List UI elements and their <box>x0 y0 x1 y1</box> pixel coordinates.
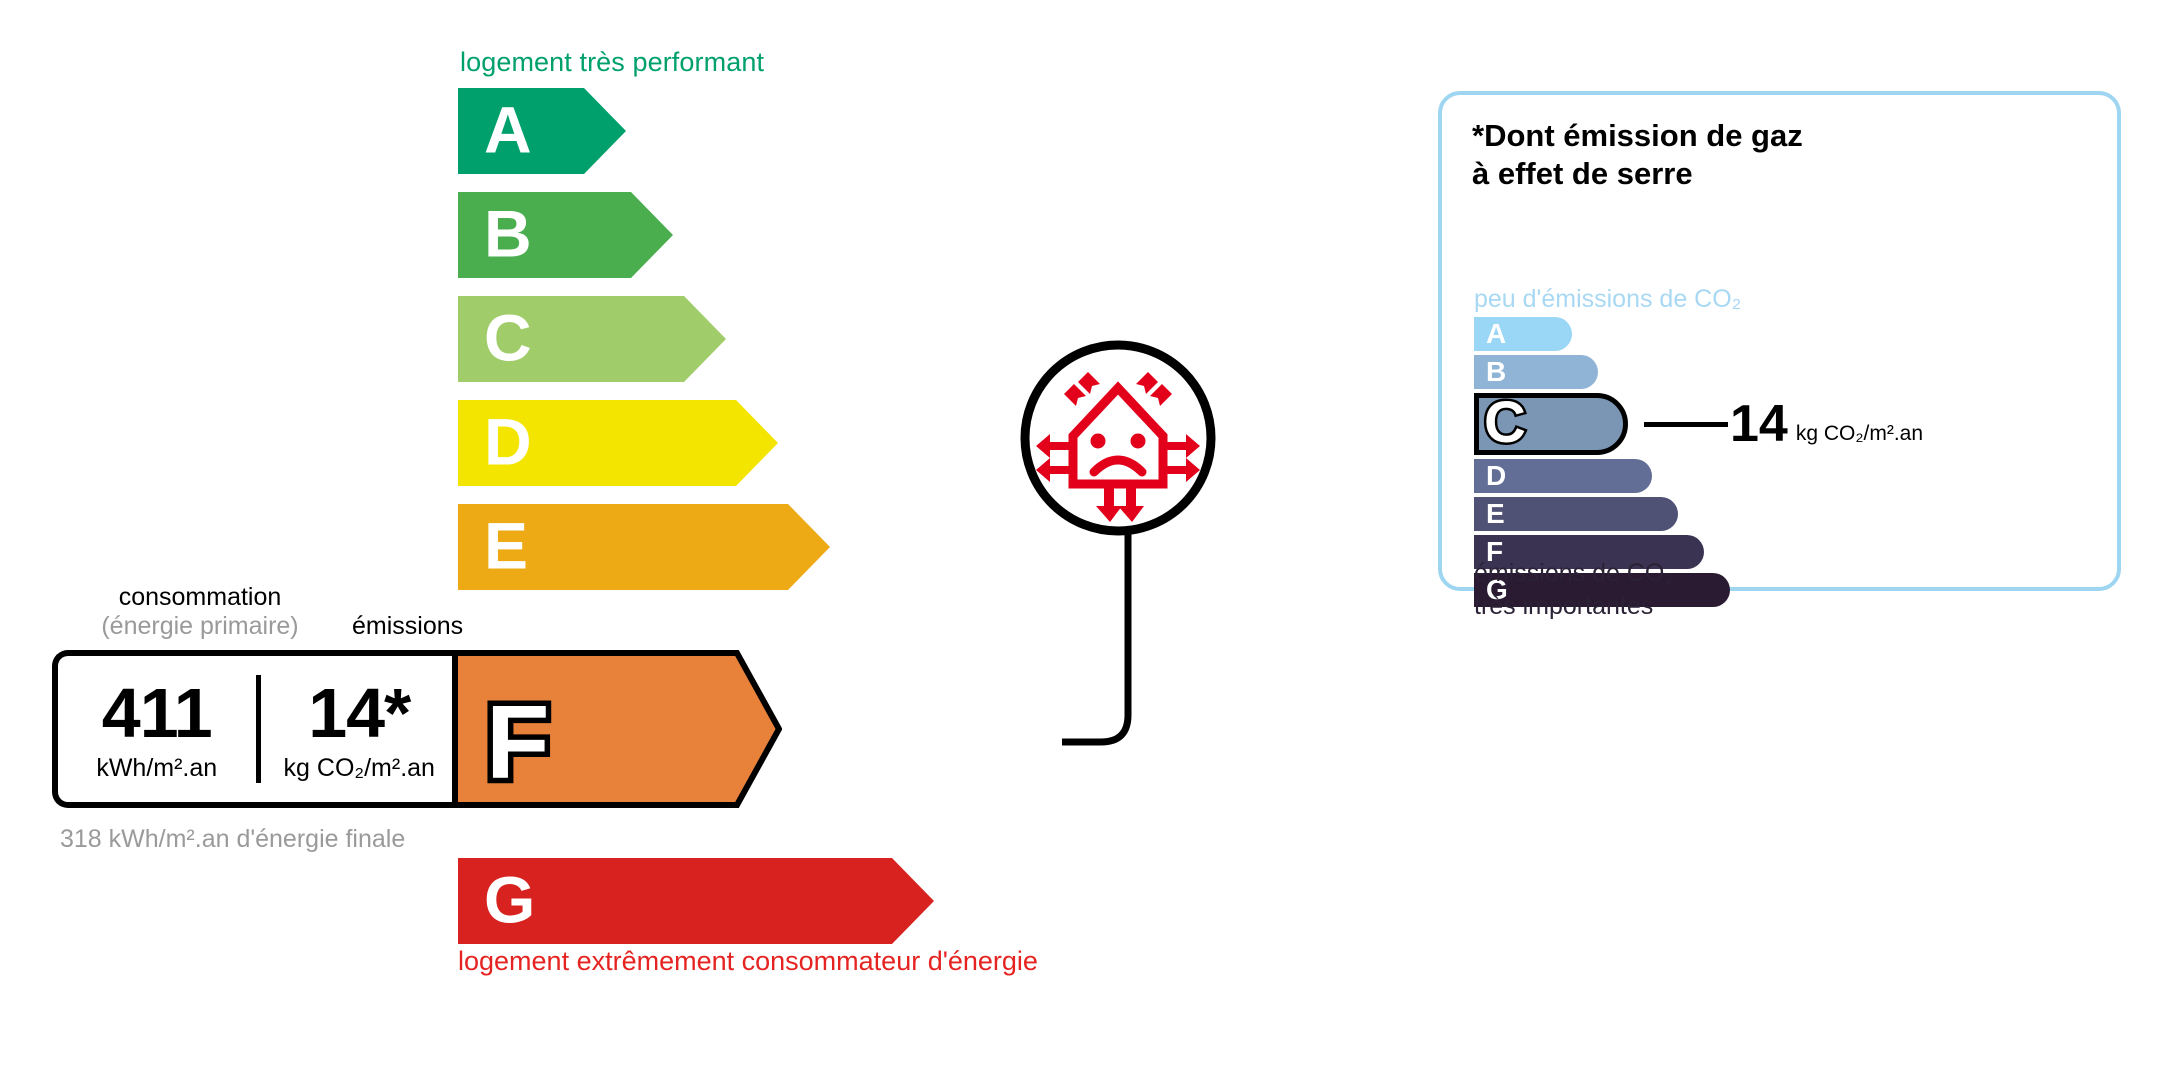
label-consommation: consommation <box>60 583 340 612</box>
emissions-unit: kg CO₂/m².an <box>261 756 459 781</box>
value-box: 411 kWh/m².an 14* kg CO₂/m².an <box>52 650 458 808</box>
energy-band-d-letter: D <box>484 409 532 475</box>
co2-emissions-panel: *Dont émission de gaz à effet de serre p… <box>1438 91 2121 591</box>
energy-band-c-letter: C <box>484 305 532 371</box>
energy-band-a[interactable]: A <box>458 88 626 174</box>
co2-bar-b-letter: B <box>1486 358 1506 386</box>
sad-house-heat-loss-icon <box>1018 338 1218 538</box>
energy-band-d[interactable]: D <box>458 400 778 486</box>
energy-band-f-letter: F <box>486 685 550 801</box>
energy-band-b[interactable]: B <box>458 192 673 278</box>
energy-band-a-letter: A <box>484 97 532 163</box>
co2-panel-title: *Dont émission de gaz à effet de serre <box>1472 117 1803 193</box>
co2-bottom-caption: émissions de CO₂ très importantes <box>1474 557 1674 623</box>
co2-bar-d-letter: D <box>1486 462 1506 490</box>
co2-bar-c-letter: C <box>1484 394 1526 452</box>
co2-bar-a-letter: A <box>1486 320 1506 348</box>
co2-callout-value: 14 <box>1730 398 1788 450</box>
energy-band-g-letter: G <box>484 867 535 933</box>
co2-callout-leader-line <box>1644 422 1728 427</box>
energy-bottom-caption: logement extrêmement consommateur d'éner… <box>458 946 1038 977</box>
house-connector-line <box>1000 520 1260 780</box>
energy-band-e-letter: E <box>484 513 528 579</box>
energy-band-b-letter: B <box>484 201 532 267</box>
primary-energy-value: 411 <box>58 678 256 748</box>
primary-energy-value-cell: 411 kWh/m².an <box>58 678 256 781</box>
energy-top-caption: logement très performant <box>460 47 764 78</box>
co2-top-caption: peu d'émissions de CO₂ <box>1474 285 1741 314</box>
energy-band-c[interactable]: C <box>458 296 726 382</box>
energy-consumption-panel: logement très performant A B C <box>0 0 1320 1079</box>
final-energy-value: 318 kWh/m².an d'énergie finale <box>60 823 405 856</box>
energy-band-f[interactable]: F <box>452 650 782 808</box>
co2-callout-unit: kg CO₂/m².an <box>1796 422 1923 450</box>
energy-band-g[interactable]: G <box>458 858 934 944</box>
emissions-value: 14* <box>261 678 459 748</box>
dpe-label: logement très performant A B C <box>0 0 2169 1079</box>
co2-bar-e-letter: E <box>1486 500 1505 528</box>
label-emissions: émissions <box>352 612 463 641</box>
label-energie-primaire: (énergie primaire) <box>60 612 340 641</box>
co2-callout: 14 kg CO₂/m².an <box>1644 398 1923 450</box>
energy-band-e[interactable]: E <box>458 504 830 590</box>
emissions-value-cell: 14* kg CO₂/m².an <box>261 678 459 781</box>
primary-energy-unit: kWh/m².an <box>58 756 256 781</box>
